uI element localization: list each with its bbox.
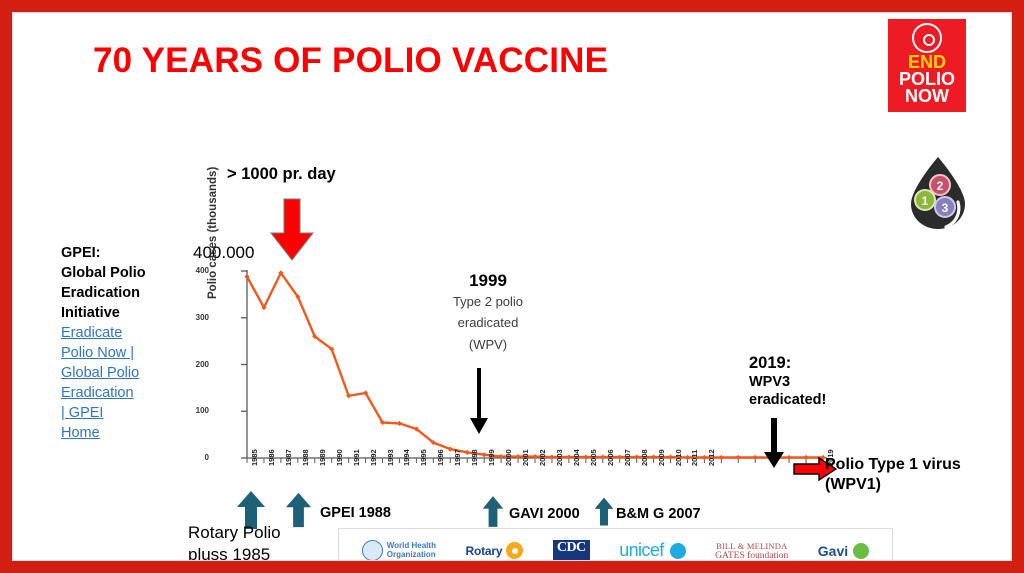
chart-y-tick-label: 400 bbox=[183, 266, 209, 275]
partner-logo-bar: World Health Organization Rotary CDC uni… bbox=[338, 528, 893, 561]
chart-x-tick-label: 2005 bbox=[589, 449, 598, 466]
chart-data-point bbox=[617, 454, 622, 459]
svg-text:1: 1 bbox=[922, 194, 929, 208]
milestone-arrow-gavi-2000 bbox=[482, 493, 504, 530]
chart-x-tick-label: 2009 bbox=[657, 449, 666, 466]
world-health-organization-logo: World Health Organization bbox=[362, 540, 436, 561]
cdc-logo-text: CDC bbox=[553, 540, 590, 561]
chart-x-tick-label: 1999 bbox=[487, 449, 496, 466]
chart-data-point bbox=[600, 454, 605, 459]
chart-x-tick-label: 2002 bbox=[538, 449, 547, 466]
chart-data-point bbox=[566, 454, 571, 459]
chart-x-tick-label: 2006 bbox=[606, 449, 615, 466]
wpv1-callout-line-1: (WPV1) bbox=[825, 475, 961, 495]
chart-x-tick-label: 2000 bbox=[504, 449, 513, 466]
milestone-arrow-bmg-2007 bbox=[594, 493, 614, 530]
chart-x-tick-label: 1992 bbox=[369, 449, 378, 466]
sidebar-link-line-2[interactable]: Global Polio bbox=[61, 363, 173, 383]
chart-x-tick-label: 1986 bbox=[267, 449, 276, 466]
chart-y-tick-label: 100 bbox=[183, 406, 209, 415]
annotation-1999-year: 1999 bbox=[423, 271, 553, 291]
annotation-1999-line-2: (WPV) bbox=[423, 334, 553, 355]
milestone-label-gavi-2000: GAVI 2000 bbox=[509, 506, 580, 522]
chart-y-tick-label: 300 bbox=[183, 313, 209, 322]
unicef-logo-text: unicef bbox=[619, 540, 663, 561]
chart-x-tick-label: 2012 bbox=[707, 449, 716, 466]
annotation-1999-down-arrow-icon bbox=[468, 368, 490, 436]
chart-x-tick-label: 1990 bbox=[335, 449, 344, 466]
annotation-2019-down-arrow-icon bbox=[762, 418, 786, 470]
sidebar-link-line-3[interactable]: Eradication bbox=[61, 383, 173, 403]
gavi-globe-icon bbox=[853, 543, 869, 559]
bill-and-melinda-gates-foundation-logo: BILL & MELINDA GATES foundation bbox=[715, 541, 788, 561]
chart-data-point bbox=[736, 455, 741, 460]
chart-y-tick-label: 0 bbox=[183, 453, 209, 462]
svg-text:3: 3 bbox=[942, 201, 949, 215]
rotary-label-line-0: Rotary Polio bbox=[188, 522, 281, 544]
rotary-label-line-1: pluss 1985 bbox=[188, 544, 281, 561]
rotary-wheel-icon bbox=[912, 23, 942, 53]
chart-data-point bbox=[668, 454, 673, 459]
cdc-logo: CDC bbox=[553, 540, 590, 561]
milestone-arrow-gpei-1988 bbox=[285, 490, 312, 530]
red-down-arrow-icon bbox=[268, 197, 316, 263]
chart-x-tick-label: 1998 bbox=[470, 449, 479, 466]
chart-x-tick-label: 1994 bbox=[402, 449, 411, 466]
chart-x-tick-label: 2001 bbox=[521, 449, 530, 466]
chart-x-tick-label: 2008 bbox=[640, 449, 649, 466]
annotation-2019-line-0: WPV3 bbox=[749, 373, 826, 391]
milestone-label-rotary-polio-pluss-1985: Rotary Polio pluss 1985 bbox=[188, 522, 281, 561]
y-axis-callout: 400.000 bbox=[193, 243, 254, 263]
gates-logo-line-0: BILL & MELINDA bbox=[716, 541, 787, 551]
unicef-globe-icon bbox=[670, 543, 686, 559]
chart-x-tick-label: 1991 bbox=[352, 449, 361, 466]
wpv1-callout-line-0: Polio Type 1 virus bbox=[825, 455, 961, 475]
svg-text:2: 2 bbox=[937, 179, 944, 193]
gavi-logo: Gavi bbox=[818, 543, 869, 559]
rotary-logo-text: Rotary bbox=[465, 544, 502, 558]
chart-x-tick-label: 2011 bbox=[690, 450, 699, 466]
milestone-label-gpei-1988: GPEI 1988 bbox=[320, 505, 391, 521]
sidebar-heading-line-1: Global Polio bbox=[61, 263, 173, 283]
wpv1-callout: Polio Type 1 virus (WPV1) bbox=[825, 455, 961, 496]
chart-data-point bbox=[482, 452, 487, 457]
chart-x-tick-label: 1985 bbox=[250, 449, 259, 466]
annotation-2019-year: 2019: bbox=[749, 354, 826, 373]
sidebar-heading-line-2: Eradication bbox=[61, 283, 173, 303]
chart-y-tick-label: 200 bbox=[183, 360, 209, 369]
chart-data-point bbox=[549, 454, 554, 459]
unicef-logo: unicef bbox=[619, 540, 685, 561]
chart-x-tick-label: 1987 bbox=[284, 449, 293, 466]
polio-vaccine-droplet-icon: 2 1 3 bbox=[901, 155, 975, 231]
chart-x-tick-label: 1993 bbox=[386, 449, 395, 466]
sidebar-link-line-5[interactable]: Home bbox=[61, 423, 173, 443]
chart-x-tick-label: 2004 bbox=[572, 449, 581, 466]
sidebar-link-line-0[interactable]: Eradicate bbox=[61, 323, 173, 343]
chart-data-point bbox=[583, 454, 588, 459]
sidebar-heading-line-3: Initiative bbox=[61, 303, 173, 323]
end-polio-now-line3: NOW bbox=[905, 88, 949, 105]
annotation-1999-line-1: eradicated bbox=[423, 312, 553, 333]
sidebar-link-line-1[interactable]: Polio Now | bbox=[61, 343, 173, 363]
end-polio-now-logo: END POLIO NOW bbox=[888, 19, 966, 112]
rotary-wheel-icon bbox=[506, 542, 523, 559]
chart-x-tick-label: 1995 bbox=[419, 449, 428, 466]
chart-x-tick-label: 2010 bbox=[674, 449, 683, 466]
gpei-sidebar: GPEI: Global Polio Eradication Initiativ… bbox=[61, 243, 173, 443]
chart-data-point bbox=[634, 454, 639, 459]
who-globe-icon bbox=[362, 540, 383, 561]
gates-logo-line-1: GATES foundation bbox=[715, 551, 788, 561]
chart-x-tick-label: 2003 bbox=[555, 449, 564, 466]
chart-x-tick-label: 1996 bbox=[436, 449, 445, 466]
chart-data-point bbox=[753, 455, 758, 460]
chart-x-tick-label: 2007 bbox=[623, 449, 632, 466]
gavi-logo-text: Gavi bbox=[818, 543, 848, 559]
chart-data-point bbox=[719, 455, 724, 460]
annotation-1999: 1999 Type 2 polio eradicated (WPV) bbox=[423, 271, 553, 355]
sidebar-link-line-4[interactable]: | GPEI bbox=[61, 403, 173, 423]
chart-data-point bbox=[651, 454, 656, 459]
annotation-1999-line-0: Type 2 polio bbox=[423, 291, 553, 312]
chart-data-point bbox=[787, 455, 792, 460]
chart-x-tick-label: 1988 bbox=[301, 449, 310, 466]
page-title: 70 YEARS OF POLIO VACCINE bbox=[93, 41, 608, 81]
annotation-2019: 2019: WPV3 eradicated! bbox=[749, 354, 826, 409]
rotary-international-logo: Rotary bbox=[465, 542, 523, 559]
milestone-label-bmg-2007: B&M G 2007 bbox=[616, 506, 701, 522]
sidebar-heading-line-0: GPEI: bbox=[61, 243, 173, 263]
peak-rate-label: > 1000 pr. day bbox=[227, 165, 336, 184]
slide-canvas: 70 YEARS OF POLIO VACCINE END POLIO NOW … bbox=[12, 12, 1012, 561]
chart-x-tick-label: 1997 bbox=[453, 449, 462, 466]
chart-x-tick-label: 1989 bbox=[318, 449, 327, 466]
annotation-2019-line-1: eradicated! bbox=[749, 391, 826, 409]
who-logo-line-1: Organization bbox=[387, 550, 436, 559]
